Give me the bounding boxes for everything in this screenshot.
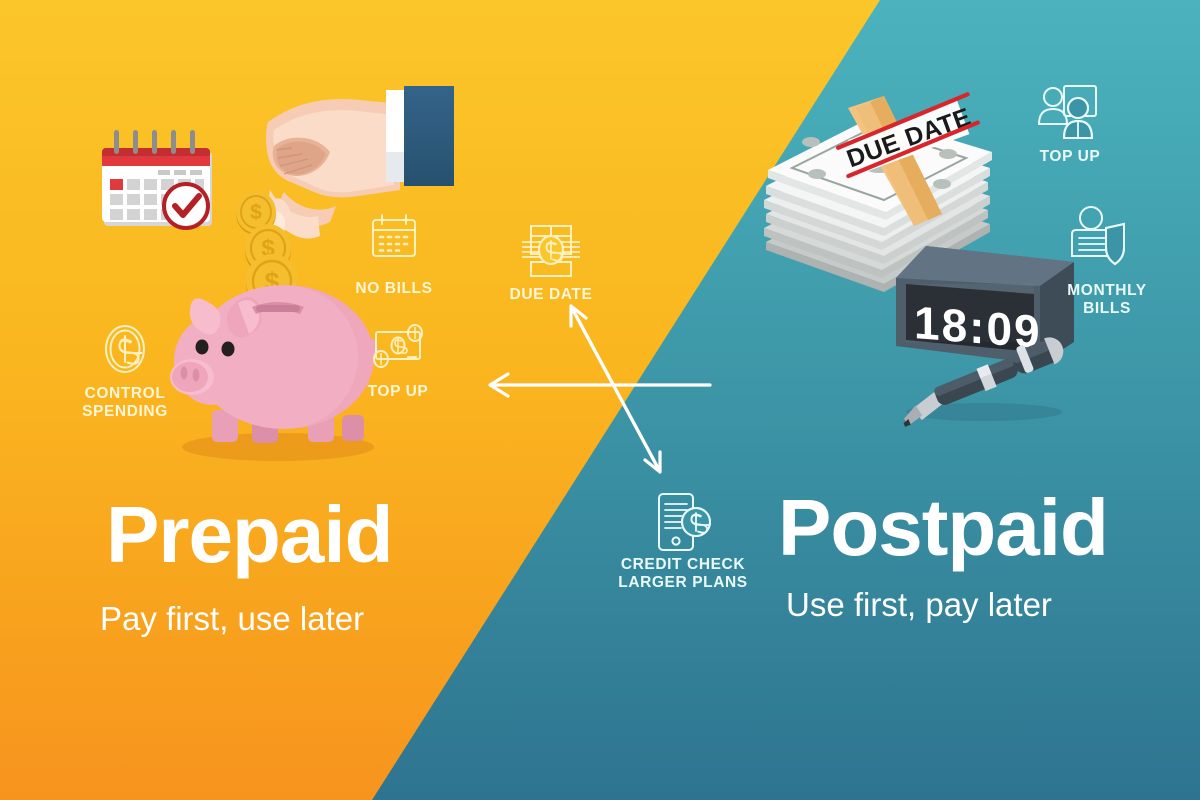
left-subheadline: Pay first, use later	[100, 602, 364, 635]
right-subheadline: Use first, pay later	[786, 588, 1052, 621]
piggy-bank-illustration: $ $	[160, 235, 390, 470]
wall-calendar-illustration	[96, 118, 224, 236]
right-headline: Postpaid	[778, 488, 1108, 568]
feature-label-top-up-left: TOP UP	[336, 383, 460, 401]
feature-label-control-spending: CONTROL SPENDING	[55, 385, 195, 422]
svg-text:$: $	[250, 201, 262, 224]
two-users-outline-icon	[1036, 82, 1102, 144]
feature-label-top-up-right: TOP UP	[1010, 148, 1130, 166]
mobile-dollar-outline-icon	[653, 492, 713, 554]
arrow-down-right	[573, 310, 660, 472]
dollar-coin-outline-icon	[96, 320, 154, 378]
pen-illustration	[880, 330, 1080, 440]
banknote-coins-outline-icon	[368, 322, 428, 374]
arrow-left	[490, 374, 710, 396]
document-shield-outline-icon	[1066, 204, 1138, 272]
direction-arrows-group	[470, 290, 730, 490]
calendar-outline-icon	[368, 212, 420, 262]
feature-label-credit-check: CREDIT CHECK LARGER PLANS	[608, 556, 758, 593]
cash-bundle-outline-icon	[518, 222, 584, 280]
infographic-canvas: $ $ $	[0, 0, 1200, 800]
feature-label-monthly-bills: MONTHLY BILLS	[1044, 282, 1170, 319]
left-headline: Prepaid	[106, 495, 392, 575]
feature-label-no-bills: NO BILLS	[326, 280, 462, 298]
